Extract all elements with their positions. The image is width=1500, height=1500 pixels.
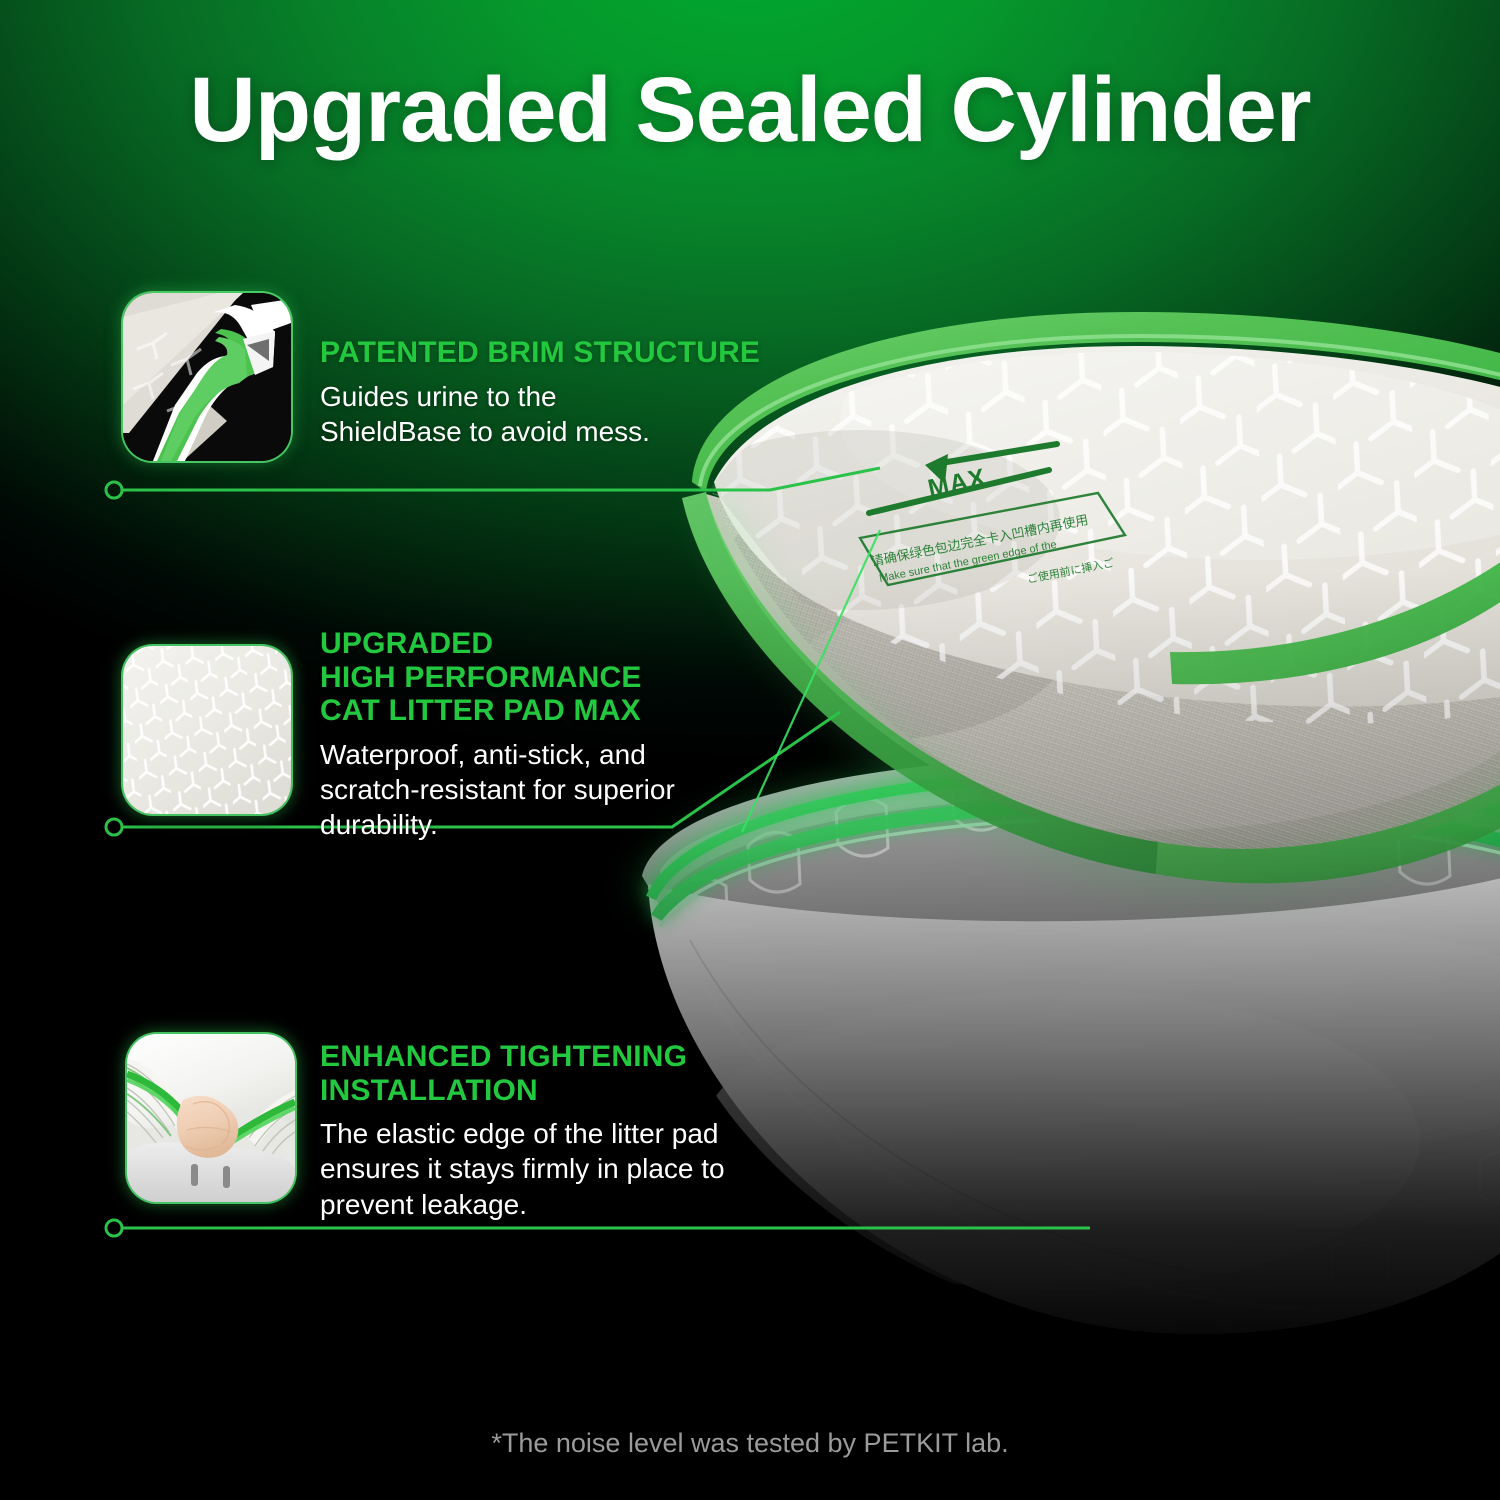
- footnote-text: *The noise level was tested by PETKIT la…: [0, 1428, 1500, 1459]
- feature-2-body: Waterproof, anti-stick, and scratch-resi…: [320, 737, 840, 843]
- leader-dot-2: [106, 819, 122, 835]
- leader-dot-1: [106, 482, 122, 498]
- leader-line-1: [122, 468, 880, 490]
- feature-1-heading: PATENTED BRIM STRUCTURE: [320, 336, 840, 370]
- litter-pad-texture-thumbnail[interactable]: [123, 646, 291, 814]
- feature-1-body: Guides urine to the ShieldBase to avoid …: [320, 379, 840, 450]
- feature-2-heading: UPGRADED HIGH PERFORMANCE CAT LITTER PAD…: [320, 627, 840, 728]
- leader-dot-3: [106, 1220, 122, 1236]
- brim-cross-section-thumbnail[interactable]: [123, 293, 291, 461]
- page-title: Upgraded Sealed Cylinder: [0, 62, 1500, 159]
- feature-3-body: The elastic edge of the litter pad ensur…: [320, 1116, 860, 1222]
- feature-3-heading: ENHANCED TIGHTENING INSTALLATION: [320, 1040, 860, 1107]
- infographic-canvas: MAX 请确保绿色包边完全卡入凹槽内再使用 Make sure that the…: [0, 0, 1500, 1500]
- hand-tightening-pad-thumbnail[interactable]: [127, 1034, 295, 1202]
